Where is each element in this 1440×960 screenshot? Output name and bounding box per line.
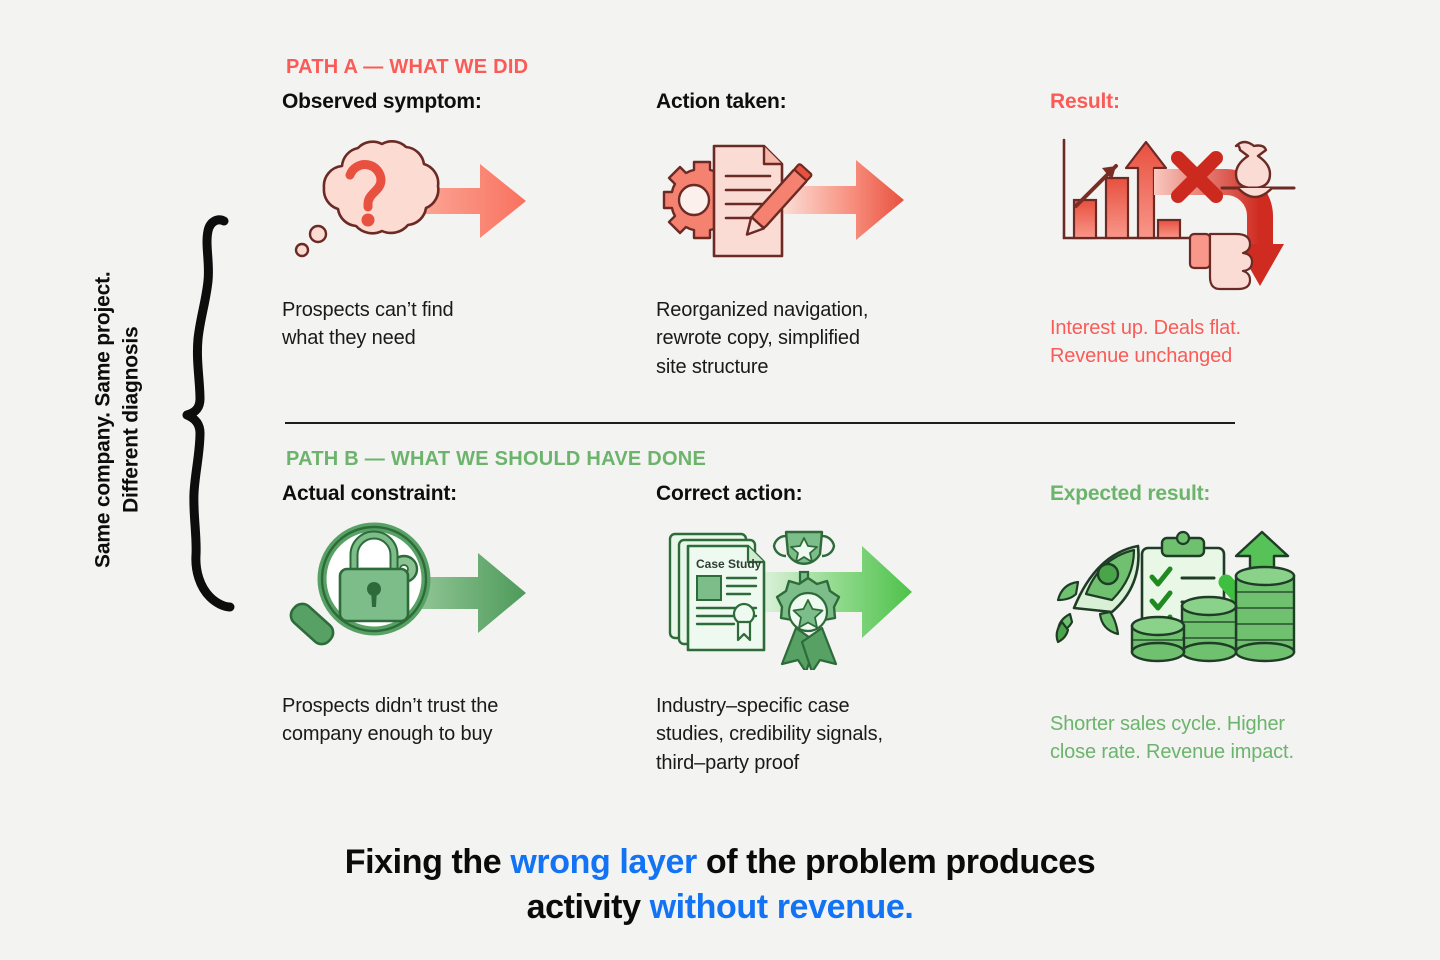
chart-x-moneybag-thumbsdown-downarrow-icon <box>1050 126 1300 291</box>
column-heading: Actual constraint: <box>282 482 662 516</box>
section-divider <box>285 422 1235 424</box>
icon-tile <box>1050 516 1430 684</box>
column-caption: Shorter sales cycle. Higher close rate. … <box>1050 710 1430 767</box>
case-study-doc-label: Case Study <box>696 557 762 571</box>
icon-tile <box>282 520 662 670</box>
path-b-column-expected-result: Expected result: <box>1050 482 1430 767</box>
column-caption: Prospects didn’t trust the company enoug… <box>282 692 662 749</box>
rocket-clipboard-check-coins-uparrow-icon <box>1050 520 1300 680</box>
icon-tile: Case Study <box>656 520 1036 670</box>
column-heading: Expected result: <box>1050 482 1430 516</box>
column-heading: Action taken: <box>656 90 1036 124</box>
path-b-column-constraint: Actual constraint: <box>282 482 662 749</box>
headline-part-1: Fixing the <box>345 843 511 881</box>
icon-tile <box>1050 124 1430 292</box>
headline-highlight-2: without revenue. <box>650 888 914 926</box>
column-caption: Interest up. Deals flat. Revenue unchang… <box>1050 314 1430 371</box>
magnifier-padlock-key-arrow-icon <box>282 521 542 669</box>
icon-tile <box>282 128 662 278</box>
column-heading: Correct action: <box>656 482 1036 516</box>
side-caption: Same company. Same project. Different di… <box>89 210 144 630</box>
hand-drawn-brace-icon <box>170 215 240 615</box>
column-caption: Industry–specific case studies, credibil… <box>656 692 1036 777</box>
path-b-label: PATH B — WHAT WE SHOULD HAVE DONE <box>286 448 706 471</box>
bottom-headline: Fixing the wrong layer of the problem pr… <box>0 840 1440 930</box>
column-heading: Observed symptom: <box>282 90 662 124</box>
path-a-column-symptom: Observed symptom: Prospects can’t find <box>282 90 662 353</box>
gear-document-pencil-arrow-icon <box>656 128 918 278</box>
case-study-trophy-award-arrow-icon: Case Study <box>656 520 924 670</box>
thought-bubble-question-arrow-icon <box>282 128 542 278</box>
headline-part-2: of the problem produces <box>697 843 1095 881</box>
path-a-label: PATH A — WHAT WE DID <box>286 56 528 79</box>
icon-tile <box>656 128 1036 278</box>
path-b-row: PATH B — WHAT WE SHOULD HAVE DONE Actual… <box>250 448 1440 814</box>
column-caption: Reorganized navigation, rewrote copy, si… <box>656 296 1036 381</box>
path-a-row: PATH A — WHAT WE DID Observed symptom: <box>250 56 1440 422</box>
column-caption: Prospects can’t find what they need <box>282 296 662 353</box>
path-a-column-action: Action taken: <box>656 90 1036 381</box>
path-b-column-correct-action: Correct action: Case Study <box>656 482 1036 777</box>
headline-part-3: activity <box>527 888 650 926</box>
left-rail: Same company. Same project. Different di… <box>0 0 250 960</box>
headline-highlight-1: wrong layer <box>510 843 696 881</box>
path-a-column-result: Result: <box>1050 90 1430 371</box>
column-heading: Result: <box>1050 90 1430 124</box>
